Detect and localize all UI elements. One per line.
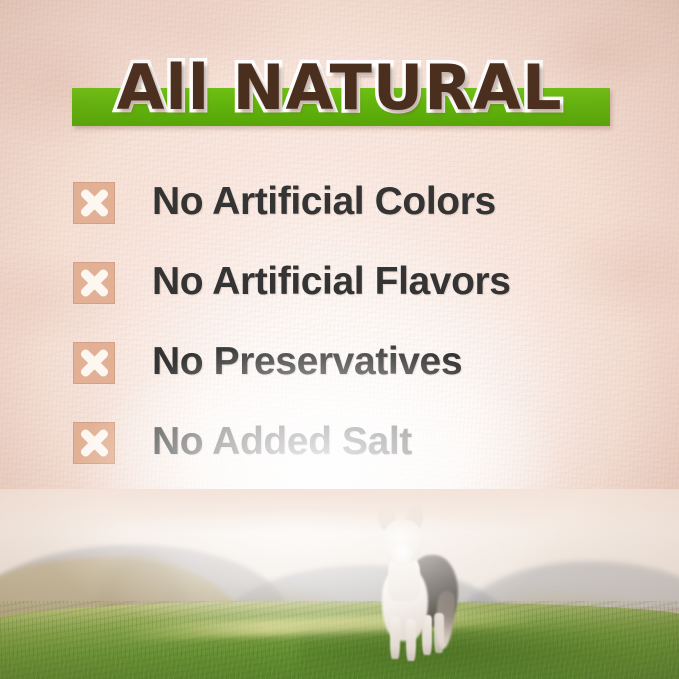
dog-leg-back-right: [434, 613, 444, 653]
banner: All NATURAL: [0, 50, 679, 142]
feature-label: No Added Salt: [152, 416, 412, 470]
landscape-photo: [0, 489, 679, 679]
feature-item: No Artificial Colors: [0, 176, 679, 256]
x-glyph: [73, 182, 115, 224]
feature-label: No Preservatives: [152, 336, 462, 390]
x-mark-icon: [73, 422, 115, 464]
x-glyph: [73, 262, 115, 304]
product-feature-graphic: All NATURAL No Artificial Colors No Arti…: [0, 0, 679, 679]
feature-item: No Artificial Flavors: [0, 256, 679, 336]
feature-list: No Artificial Colors No Artificial Flavo…: [0, 176, 679, 496]
banner-title: All NATURAL: [0, 50, 679, 126]
dog-leg-front-left: [390, 617, 400, 659]
feature-item: No Preservatives: [0, 336, 679, 416]
dog-muzzle: [391, 543, 413, 565]
dog-leg-front-right: [406, 619, 416, 661]
feature-label: No Artificial Colors: [152, 176, 496, 230]
x-glyph: [73, 422, 115, 464]
x-mark-icon: [73, 182, 115, 224]
dog-figure: [358, 505, 468, 663]
feature-item: No Added Salt: [0, 416, 679, 496]
ground-shadow: [300, 627, 640, 679]
x-glyph: [73, 342, 115, 384]
x-mark-icon: [73, 342, 115, 384]
x-mark-icon: [73, 262, 115, 304]
feature-label: No Artificial Flavors: [152, 256, 511, 310]
